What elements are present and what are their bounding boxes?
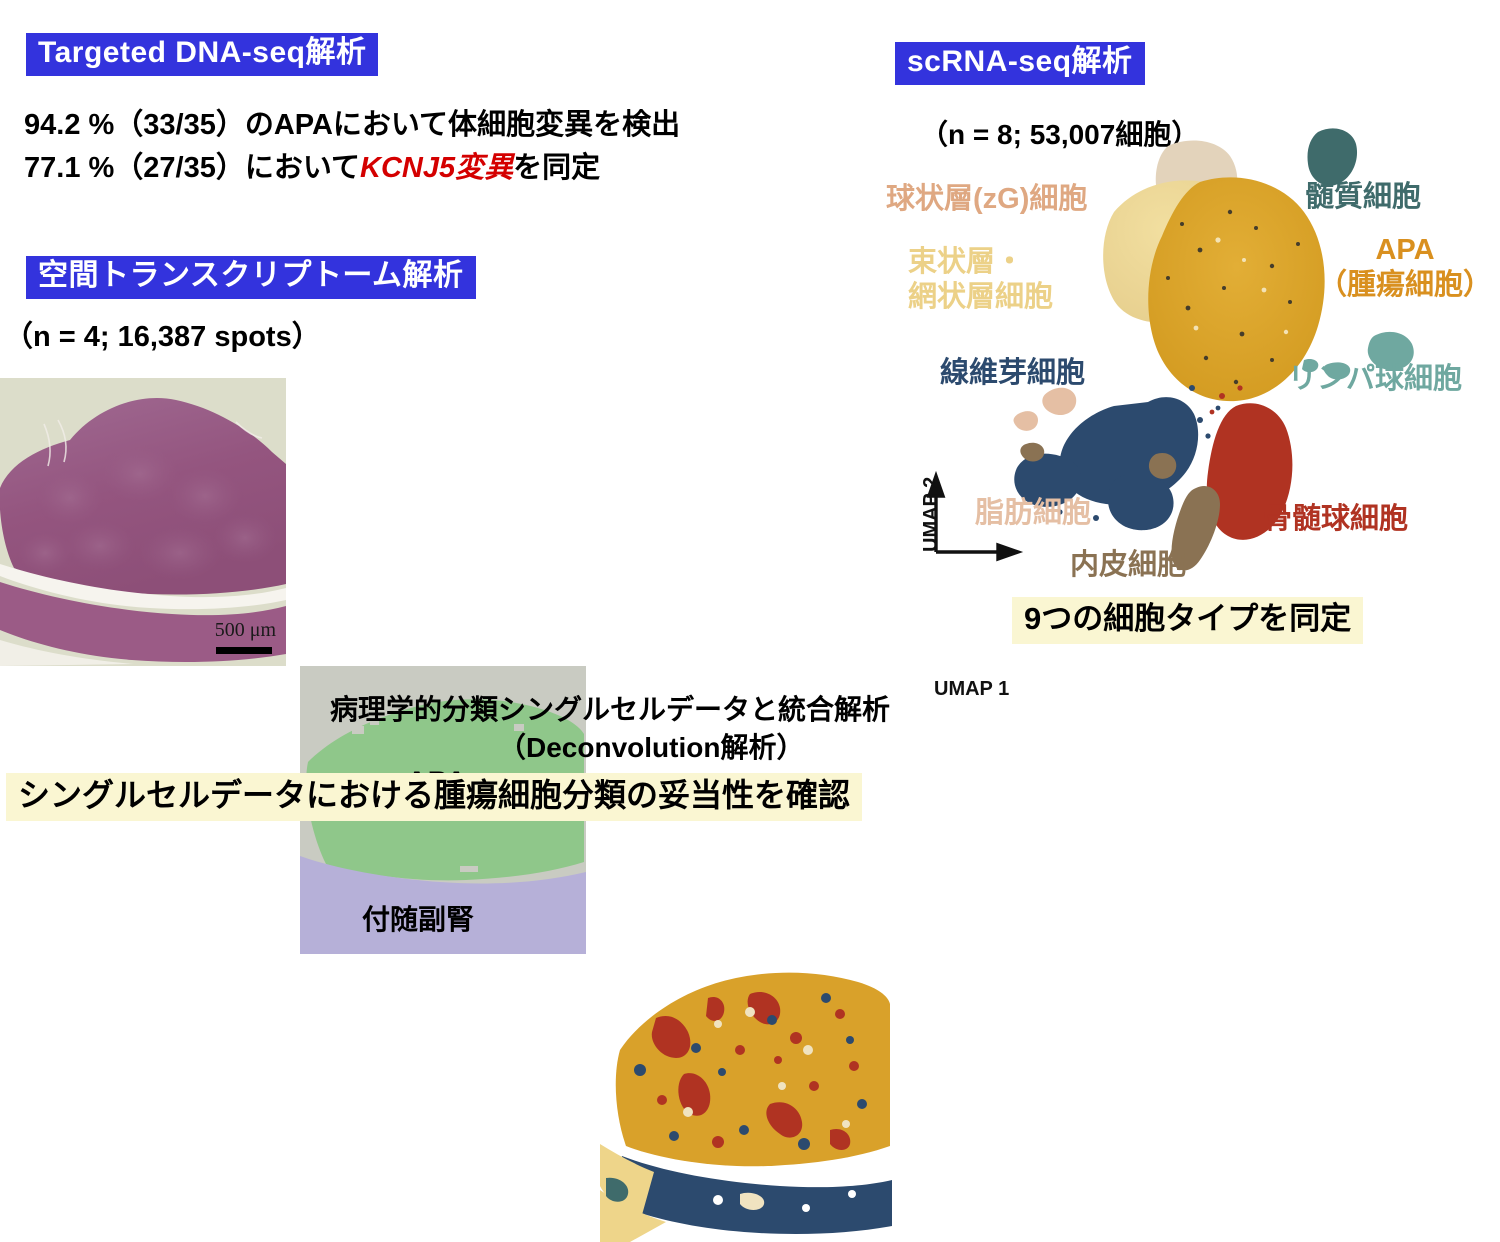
- scrnaseq-conclusion-banner: 9つの細胞タイプを同定: [1012, 597, 1363, 644]
- umap-label-myeloid: 骨髄球細胞: [1263, 502, 1408, 537]
- dnaseq-line2-suffix: を同定: [513, 152, 600, 184]
- umap-label-apa-line2: （腫瘍細胞）: [1318, 269, 1492, 301]
- umap-x-axis-label: UMAP 1: [934, 678, 1009, 701]
- dnaseq-result-line-2: 77.1 %（27/35）においてKCNJ5変異を同定: [24, 151, 600, 186]
- umap-y-axis-label: UMAP 2: [920, 477, 943, 552]
- scrnaseq-header: scRNA-seq解析: [895, 42, 1145, 85]
- scalebar-bar-icon: [216, 647, 272, 654]
- umap-label-zf-zr-cells: 束状層・ 網状層細胞: [908, 245, 1053, 315]
- scalebar-label: 500 μm: [215, 619, 276, 642]
- dnaseq-result-line-1: 94.2 %（33/35）のAPAにおいて体細胞変異を検出: [24, 108, 680, 143]
- deconvolution-spot-map: [600, 954, 892, 1242]
- deconvolution-caption-line-1: 病理学的分類シングルセルデータと統合解析: [330, 693, 890, 727]
- umap-label-adipocyte: 脂肪細胞: [975, 496, 1091, 531]
- deconvolution-panel: [600, 954, 892, 1242]
- he-histology-panel: 500 μm: [0, 378, 286, 666]
- umap-label-zg-cells: 球状層(zG)細胞: [886, 182, 1087, 217]
- umap-label-fibroblast: 線維芽細胞: [940, 356, 1085, 391]
- dnaseq-line1-text: 94.2 %（33/35）のAPAにおいて体細胞変異を検出: [24, 109, 680, 141]
- umap-label-zf-zr-line2: 網状層細胞: [908, 281, 1053, 313]
- spatial-conclusion-banner: シングルセルデータにおける腫瘍細胞分類の妥当性を確認: [6, 773, 862, 821]
- umap-label-zf-zr-line1: 束状層・: [908, 246, 1024, 278]
- dnaseq-line2-prefix: 77.1 %（27/35）において: [24, 152, 360, 184]
- umap-label-apa-line1: APA: [1375, 234, 1434, 266]
- umap-label-apa-tumor: APA （腫瘍細胞）: [1318, 233, 1492, 303]
- spatial-header: 空間トランスクリプトーム解析: [26, 256, 476, 299]
- dnaseq-header: Targeted DNA-seq解析: [26, 33, 378, 76]
- spatial-subtitle: （n = 4; 16,387 spots）: [4, 320, 321, 355]
- umap-label-endothelial: 内皮細胞: [1070, 548, 1186, 583]
- kcnj5-mutation-emphasis: KCNJ5変異: [360, 152, 513, 184]
- umap-label-lymphocyte: リンパ球細胞: [1288, 362, 1462, 397]
- annotation-label-adrenal: 付随副腎: [362, 898, 474, 938]
- umap-label-medulla: 髄質細胞: [1305, 180, 1421, 215]
- deconvolution-caption-line-2: （Deconvolution解析）: [498, 731, 804, 765]
